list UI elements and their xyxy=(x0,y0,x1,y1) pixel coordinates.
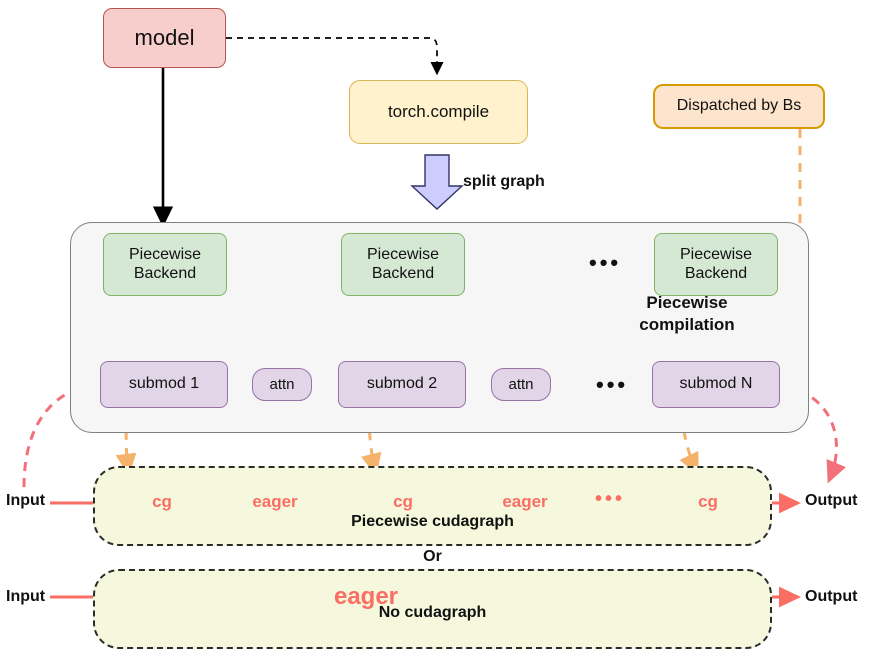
attn-1[interactable]: attn xyxy=(252,368,312,401)
band1-step-cg-2: cg xyxy=(383,492,423,512)
band1-step-cg-1: cg xyxy=(142,492,182,512)
band1-step-eager-2: eager xyxy=(488,492,562,512)
diagram-canvas: model torch.compile Dispatched by Bs spl… xyxy=(0,0,874,663)
piecewise-backend-n[interactable]: Piecewise Backend xyxy=(654,233,778,296)
band1-step-eager-1: eager xyxy=(238,492,312,512)
band2-step-eager: eager xyxy=(318,583,414,611)
attn-2[interactable]: attn xyxy=(491,368,551,401)
band1-ellipsis: ••• xyxy=(595,488,625,511)
piecewise-backend-2[interactable]: Piecewise Backend xyxy=(341,233,465,296)
band1-step-cg-n: cg xyxy=(688,492,728,512)
band1-output-label: Output xyxy=(805,492,857,510)
or-label: Or xyxy=(93,548,772,566)
band2-output-label: Output xyxy=(805,588,857,606)
torch-compile-node[interactable]: torch.compile xyxy=(349,80,528,144)
piecewise-cudagraph-label: Piecewise cudagraph xyxy=(93,513,772,531)
wire-model-to-compile xyxy=(226,38,437,72)
piecewise-cudagraph-band xyxy=(93,466,772,546)
submod-n[interactable]: submod N xyxy=(652,361,780,408)
piecewise-backend-2-label: Piecewise Backend xyxy=(367,246,439,284)
no-cudagraph-label: No cudagraph xyxy=(93,604,772,622)
backend-ellipsis: ••• xyxy=(589,250,621,276)
split-graph-arrow xyxy=(412,155,462,209)
model-node[interactable]: model xyxy=(103,8,226,68)
piecewise-compilation-label: Piecewise compilation xyxy=(612,292,762,336)
piecewise-backend-1[interactable]: Piecewise Backend xyxy=(103,233,227,296)
band2-input-label: Input xyxy=(6,588,45,606)
band1-input-label: Input xyxy=(6,492,45,510)
piecewise-backend-n-label: Piecewise Backend xyxy=(680,246,752,284)
piecewise-backend-1-label: Piecewise Backend xyxy=(129,246,201,284)
dispatched-by-bs-node[interactable]: Dispatched by Bs xyxy=(653,84,825,129)
submod-ellipsis: ••• xyxy=(596,372,628,398)
submod-1[interactable]: submod 1 xyxy=(100,361,228,408)
split-graph-label: split graph xyxy=(463,173,545,191)
submod-2[interactable]: submod 2 xyxy=(338,361,466,408)
